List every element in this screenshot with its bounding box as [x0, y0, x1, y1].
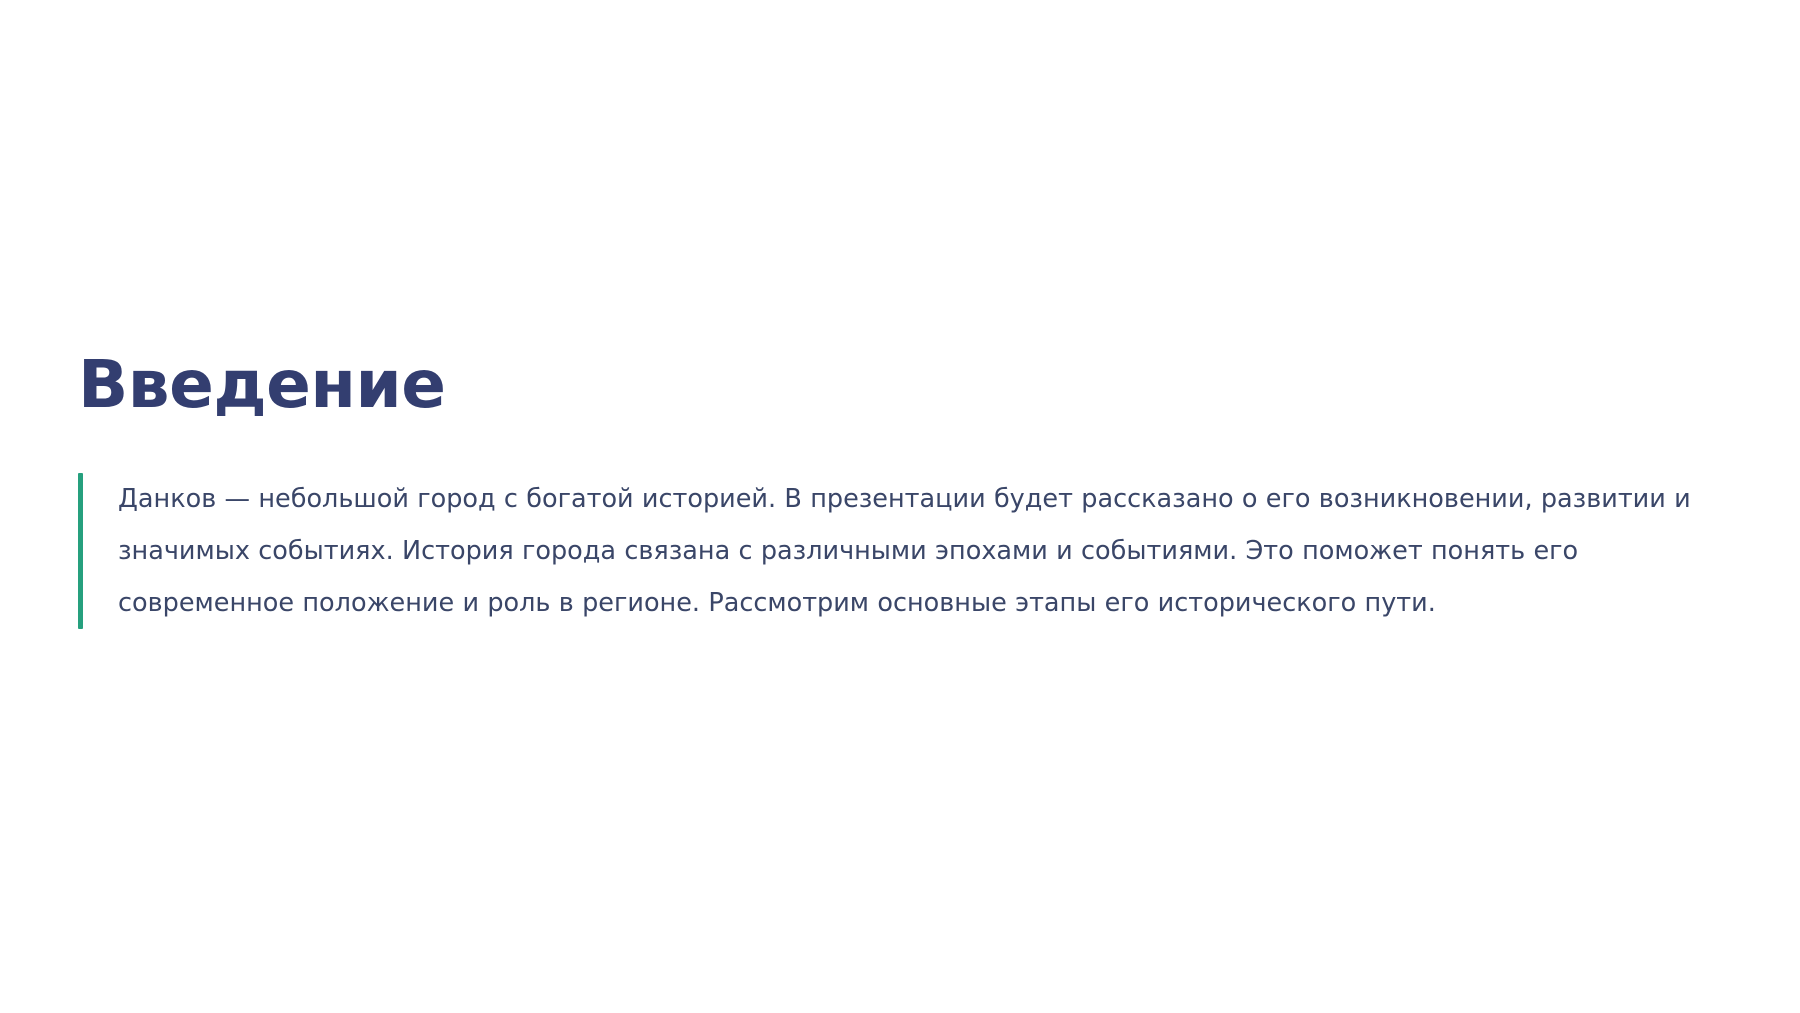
accent-bar [78, 473, 83, 629]
presentation-slide: Введение Данков — небольшой город с бога… [0, 0, 1800, 1013]
body-paragraph: Данков — небольшой город с богатой истор… [118, 473, 1738, 629]
page-title: Введение [78, 352, 1738, 418]
body-block: Данков — небольшой город с богатой истор… [78, 473, 1738, 629]
slide-content: Введение Данков — небольшой город с бога… [78, 352, 1738, 629]
